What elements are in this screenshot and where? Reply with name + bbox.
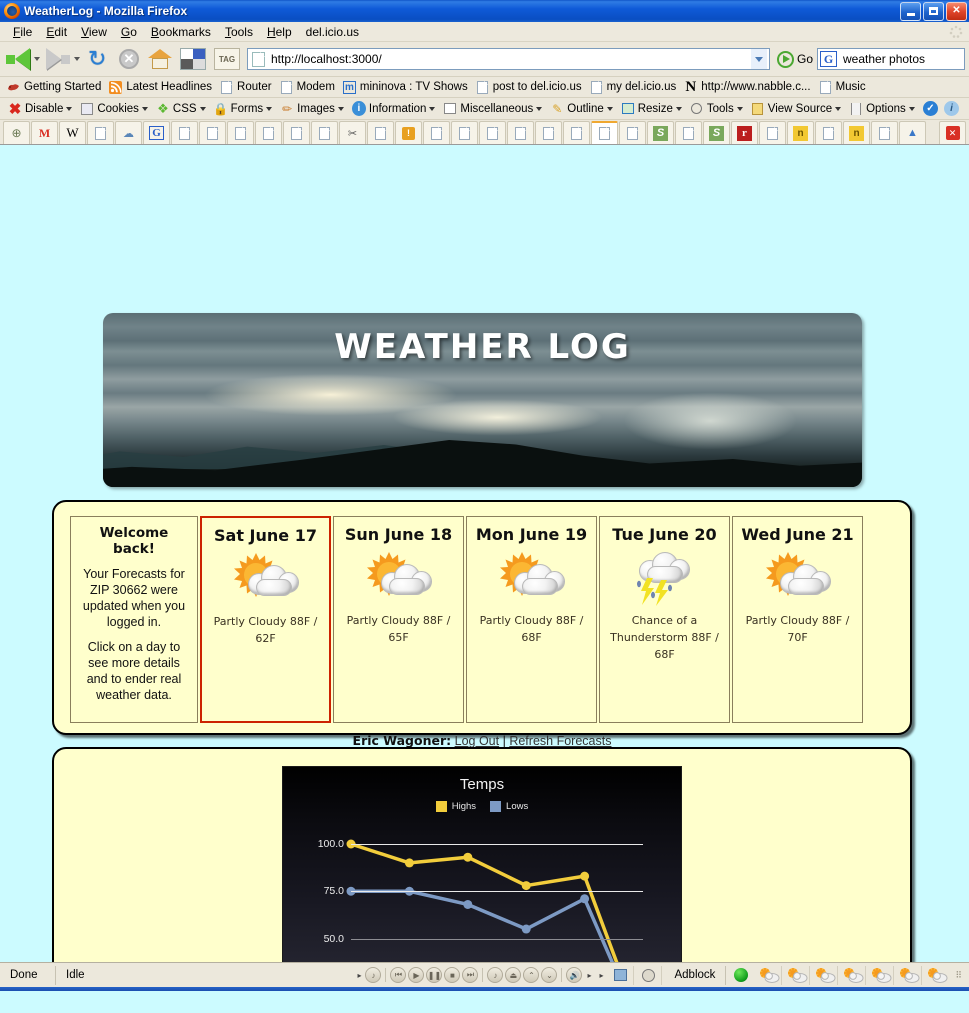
divider [385, 968, 386, 982]
search-bar[interactable]: G [817, 48, 965, 70]
webdev-outline[interactable]: ✎ Outline [546, 101, 616, 117]
welcome-paragraph-1: Your Forecasts for ZIP 30662 were update… [77, 566, 191, 630]
validate-check-icon[interactable]: ✓ [923, 101, 938, 116]
partly-cloudy-icon [230, 551, 302, 609]
chart-title: Temps [283, 776, 681, 793]
overflow-icon-1[interactable]: ▸ [584, 971, 594, 980]
chart-gridline [351, 844, 643, 845]
window-controls: ✕ [900, 2, 967, 21]
menu-decoration-icon [949, 25, 963, 39]
forecast-day: Wed June 21 [739, 525, 856, 544]
close-button[interactable]: ✕ [946, 2, 967, 21]
webdev-label: Miscellaneous [460, 103, 533, 115]
partly-cloudy-icon [363, 550, 435, 608]
chart-y-tick-label: 75.0 [324, 885, 344, 897]
refresh-forecasts-link[interactable]: Refresh Forecasts [509, 734, 611, 748]
chart-panel: Temps Highs Lows 100.075.050.025.00.0200… [52, 747, 912, 962]
partly-cloudy-icon[interactable] [756, 966, 782, 985]
menu-view[interactable]: View [74, 23, 114, 41]
forecast-card-mon[interactable]: Mon June 19 Partly Cloudy 88F / 68F [466, 516, 597, 723]
bookmark-label: mininova : TV Shows [360, 81, 468, 93]
site-banner: WEATHER LOG [103, 313, 862, 487]
palette-icon: ✏ [280, 102, 294, 116]
pause-icon[interactable]: ❚❚ [426, 967, 442, 983]
partly-cloudy-icon[interactable] [784, 966, 810, 985]
chart-point[interactable] [522, 925, 531, 934]
page-content: WEATHER LOG Welcome back! Your Forecasts… [0, 145, 969, 962]
netvibes-icon[interactable]: n [787, 121, 814, 144]
bookmark-label: Latest Headlines [126, 81, 212, 93]
page-icon [476, 80, 489, 94]
back-arrow-icon [15, 48, 30, 70]
live-bookmark-icon[interactable] [180, 48, 206, 70]
webdev-cookies[interactable]: Cookies [76, 101, 152, 117]
next-track-icon[interactable]: ⏭ [462, 967, 478, 983]
partly-cloudy-icon[interactable] [896, 966, 922, 985]
stop-icon[interactable]: ✕ [119, 49, 139, 69]
separator: | [503, 734, 506, 748]
webdev-label: Disable [25, 103, 63, 115]
google-icon[interactable]: G [143, 121, 170, 144]
logout-link[interactable]: Log Out [455, 734, 499, 748]
bookmarks-toolbar: Getting Started Latest Headlines Router … [0, 77, 969, 98]
cloud-icon[interactable]: ☁ [115, 121, 142, 144]
forecast-day: Sat June 17 [208, 526, 323, 545]
menu-file[interactable]: File [6, 23, 39, 41]
page-icon[interactable] [255, 121, 282, 144]
status-text: Done [0, 966, 56, 985]
go-label: Go [797, 52, 813, 66]
welcome-heading: Welcome back! [77, 525, 191, 557]
webdev-label: View Source [768, 103, 832, 115]
overflow-icon-2[interactable]: ▸ [596, 971, 606, 980]
url-bar[interactable] [247, 48, 770, 70]
home-icon[interactable] [148, 48, 172, 70]
page-icon[interactable] [87, 121, 114, 144]
window-titlebar: WeatherLog - Mozilla Firefox ✕ [0, 0, 969, 22]
netvibes-icon[interactable]: n [843, 121, 870, 144]
bookmark-label: Music [836, 81, 866, 93]
webdev-label: Images [297, 103, 335, 115]
webdev-label: Outline [567, 103, 603, 115]
navigation-toolbar: ✕ TAG Go G [0, 42, 969, 77]
forecast-card-tue[interactable]: Tue June 20 C [599, 516, 730, 723]
menu-bar: File Edit View Go Bookmarks Tools Help d… [0, 22, 969, 42]
page-icon[interactable] [227, 121, 254, 144]
chart-point[interactable] [522, 881, 531, 890]
partly-cloudy-icon[interactable] [924, 966, 950, 985]
page-icon[interactable] [759, 121, 786, 144]
adblock-label[interactable]: Adblock [664, 966, 726, 985]
status-bar-icons: ▸ ♪ ⏮ ▶ ❚❚ ■ ⏭ ♪ ⏏ ⌃ ⌄ 🔊 ▸ ▸ Adblock [355, 966, 969, 985]
pencil-icon: ✎ [550, 102, 564, 116]
play-icon[interactable]: ▶ [408, 967, 424, 983]
page-icon[interactable] [507, 121, 534, 144]
forward-arrow-icon [46, 48, 61, 70]
bookmark-modem[interactable]: Modem [277, 79, 340, 95]
chart-gridline [351, 939, 643, 940]
webdev-options[interactable]: Options [845, 101, 919, 117]
page-icon[interactable] [451, 121, 478, 144]
chart-series-svg [351, 844, 643, 962]
current-page-icon[interactable] [591, 121, 618, 144]
page-icon [280, 80, 293, 94]
user-action-bar: Eric Wagoner: Log Out | Refresh Forecast… [70, 733, 894, 748]
page-icon[interactable] [367, 121, 394, 144]
firefox-icon [4, 3, 20, 19]
chart-legend: Highs Lows [283, 801, 681, 812]
forecast-condition: Partly Cloudy 88F / 62F [208, 613, 323, 647]
lightning-bolt-icon [637, 578, 677, 606]
legend-swatch-lows [490, 801, 501, 812]
menu-bookmarks[interactable]: Bookmarks [144, 23, 218, 41]
legend-label: Lows [506, 801, 528, 812]
menu-tools[interactable]: Tools [218, 23, 260, 41]
forecast-condition: Partly Cloudy 88F / 68F [473, 612, 590, 646]
bookmark-nabble[interactable]: N http://www.nabble.c... [681, 79, 815, 95]
legend-item-lows: Lows [490, 801, 528, 812]
page-icon[interactable] [199, 121, 226, 144]
bookmark-mininova[interactable]: m mininova : TV Shows [340, 79, 473, 95]
webdev-right-icons: ✓ i [923, 101, 965, 116]
gmail-icon[interactable]: M [31, 121, 58, 144]
status-bar: Done Idle ▸ ♪ ⏮ ▶ ❚❚ ■ ⏭ ♪ ⏏ ⌃ ⌄ 🔊 ▸ ▸ A… [0, 962, 969, 987]
extension-icon-strip: ⊕ M W ☁ G ✂ ! S S r n n ▲ ✕ [0, 120, 969, 145]
options-icon [849, 102, 863, 116]
webdev-label: Tools [707, 103, 734, 115]
webdev-label: CSS [173, 103, 197, 115]
webdev-label: Cookies [97, 103, 139, 115]
page-icon [819, 80, 832, 94]
back-dropdown-icon[interactable] [34, 57, 40, 61]
chart-plot-area: 100.075.050.025.00.0200420052006 [351, 844, 643, 962]
foxytunes-icon[interactable]: ♪ [365, 967, 381, 983]
chart-point[interactable] [580, 872, 589, 881]
chart-gridline [351, 891, 643, 892]
network-icon[interactable] [608, 966, 634, 985]
info-icon: i [352, 102, 366, 116]
webdev-label: Forms [231, 103, 264, 115]
nabble-icon: N [684, 80, 697, 94]
forecast-card-sun[interactable]: Sun June 18 Partly Cloudy 88F / 65F [333, 516, 464, 723]
welcome-card: Welcome back! Your Forecasts for ZIP 306… [70, 516, 198, 723]
forward-arrow-tail [61, 55, 70, 64]
volume-up-icon[interactable]: ⌃ [523, 967, 539, 983]
mininova-icon: m [343, 80, 356, 94]
page-icon[interactable] [563, 121, 590, 144]
page-icon[interactable] [815, 121, 842, 144]
mute-icon[interactable]: 🔊 [566, 967, 582, 983]
chart-line-highs [351, 844, 643, 962]
forecast-day: Mon June 19 [473, 525, 590, 544]
warning-shield-icon[interactable]: ! [395, 121, 422, 144]
temps-chart[interactable]: Temps Highs Lows 100.075.050.025.00.0200… [282, 766, 682, 962]
bookmark-label: Modem [297, 81, 335, 93]
puzzle-icon: ❖ [156, 102, 170, 116]
forecast-cards: Welcome back! Your Forecasts for ZIP 306… [70, 516, 894, 723]
menu-edit[interactable]: Edit [39, 23, 74, 41]
chart-point[interactable] [405, 858, 414, 867]
stop-icon[interactable]: ■ [444, 967, 460, 983]
player-status-text: Idle [56, 966, 126, 985]
window-bottom-strip [0, 987, 969, 991]
divider [561, 968, 562, 982]
forecast-condition: Partly Cloudy 88F / 70F [739, 612, 856, 646]
forward-button[interactable] [44, 48, 72, 70]
go-button[interactable]: Go [777, 51, 813, 68]
resize-grip-icon[interactable]: ⠿ [952, 970, 965, 981]
rubyforge-icon[interactable]: r [731, 121, 758, 144]
window-title: WeatherLog - Mozilla Firefox [24, 4, 187, 18]
chart-point[interactable] [463, 853, 472, 862]
webdev-css[interactable]: ❖ CSS [152, 101, 210, 117]
page-icon[interactable] [479, 121, 506, 144]
forecast-day: Sun June 18 [340, 525, 457, 544]
playlist-icon[interactable]: ♪ [487, 967, 503, 983]
forecast-card-wed[interactable]: Wed June 21 Partly Cloudy 88F / 70F [732, 516, 863, 723]
webdev-miscellaneous[interactable]: Miscellaneous [439, 101, 546, 117]
maximize-button[interactable] [923, 2, 944, 21]
scissors-icon[interactable]: ✂ [339, 121, 366, 144]
back-arrow-tail [6, 55, 15, 64]
page-icon[interactable] [535, 121, 562, 144]
partly-cloudy-icon[interactable] [868, 966, 894, 985]
page-favicon [252, 52, 265, 67]
forecast-card-sat[interactable]: Sat June 17 Partly Cloudy 88F / 62F [200, 516, 331, 723]
lock-icon: 🔒 [214, 102, 228, 116]
menu-help[interactable]: Help [260, 23, 299, 41]
bookmark-latest-headlines[interactable]: Latest Headlines [106, 79, 217, 95]
info-circle-icon[interactable]: i [944, 101, 959, 116]
close-strip-icon[interactable]: ✕ [939, 121, 966, 144]
search-input[interactable] [841, 51, 969, 67]
webdev-resize[interactable]: Resize [617, 101, 686, 117]
webdev-view-source[interactable]: View Source [747, 101, 845, 117]
webdev-label: Options [866, 103, 906, 115]
page-icon[interactable] [619, 121, 646, 144]
cookie-icon [80, 102, 94, 116]
bookmark-label: http://www.nabble.c... [701, 81, 810, 93]
bookmark-label: my del.icio.us [607, 81, 677, 93]
menu-file-rest: ile [20, 25, 32, 39]
webdev-label: Information [369, 103, 427, 115]
legend-swatch-highs [436, 801, 447, 812]
rss-feed-icon [109, 80, 122, 94]
clipboard-icon [751, 102, 765, 116]
expand-icon[interactable]: ▸ [355, 971, 363, 980]
bookmark-label: Getting Started [24, 81, 101, 93]
go-icon [777, 51, 794, 68]
minimize-button[interactable] [900, 2, 921, 21]
prev-track-icon[interactable]: ⏮ [390, 967, 406, 983]
webdev-tools[interactable]: Tools [686, 101, 747, 117]
add-page-icon[interactable]: ⊕ [3, 121, 30, 144]
partly-cloudy-icon [762, 550, 834, 608]
page-icon [590, 80, 603, 94]
eject-icon[interactable]: ⏏ [505, 967, 521, 983]
tag-button[interactable]: TAG [214, 48, 240, 70]
resize-icon [621, 102, 635, 116]
chart-y-tick-label: 50.0 [324, 933, 344, 945]
partly-cloudy-icon[interactable] [840, 966, 866, 985]
green-dot-icon[interactable] [728, 966, 754, 985]
divider [482, 968, 483, 982]
chart-point[interactable] [580, 894, 589, 903]
user-name: Eric Wagoner: [353, 733, 452, 748]
slashdot-icon[interactable]: S [703, 121, 730, 144]
slashdot-icon[interactable]: S [647, 121, 674, 144]
partly-cloudy-icon[interactable] [812, 966, 838, 985]
firefox-bookmark-icon [7, 80, 20, 94]
url-dropdown-icon[interactable] [751, 49, 767, 69]
forecast-condition: Chance of a Thunderstorm 88F / 68F [606, 612, 723, 663]
bookmark-getting-started[interactable]: Getting Started [4, 79, 106, 95]
forward-dropdown-icon[interactable] [74, 57, 80, 61]
webdev-disable[interactable]: ✖ Disable [4, 101, 76, 117]
forecast-panel: Welcome back! Your Forecasts for ZIP 306… [52, 500, 912, 735]
legend-label: Highs [452, 801, 476, 812]
webdev-information[interactable]: i Information [348, 101, 440, 117]
unhappy-face-icon[interactable] [636, 966, 662, 985]
menu-go[interactable]: Go [114, 23, 144, 41]
chart-y-tick-label: 100.0 [318, 838, 344, 850]
list-icon [443, 102, 457, 116]
bookmark-router[interactable]: Router [217, 79, 277, 95]
red-x-icon: ✖ [8, 102, 22, 116]
page-icon [220, 80, 233, 94]
web-developer-toolbar: ✖ Disable Cookies ❖ CSS 🔒 Forms ✏ Images… [0, 98, 969, 120]
page-icon[interactable] [283, 121, 310, 144]
clock-icon [690, 102, 704, 116]
bookmark-music[interactable]: Music [816, 79, 871, 95]
bookmark-my-delicious[interactable]: my del.icio.us [587, 79, 682, 95]
page-icon[interactable] [423, 121, 450, 144]
url-input[interactable] [269, 51, 751, 67]
forecast-day: Tue June 20 [606, 525, 723, 544]
page-title: WEATHER LOG [103, 327, 862, 367]
welcome-paragraph-2: Click on a day to see more details and t… [77, 639, 191, 703]
page-icon[interactable] [171, 121, 198, 144]
page-icon[interactable] [675, 121, 702, 144]
bookmark-label: Router [237, 81, 272, 93]
chart-point[interactable] [463, 900, 472, 909]
chart-line-lows [351, 891, 643, 962]
legend-item-highs: Highs [436, 801, 476, 812]
bookmark-label: post to del.icio.us [493, 81, 582, 93]
wikipedia-icon[interactable]: W [59, 121, 86, 144]
thunderstorm-icon [629, 550, 701, 608]
mountain-icon[interactable]: ▲ [899, 121, 926, 144]
volume-down-icon[interactable]: ⌄ [541, 967, 557, 983]
menu-delicious[interactable]: del.icio.us [299, 23, 366, 41]
google-search-icon[interactable]: G [820, 51, 837, 67]
webdev-images[interactable]: ✏ Images [276, 101, 348, 117]
back-button[interactable] [4, 48, 32, 70]
page-icon[interactable] [871, 121, 898, 144]
bookmark-post-to-delicious[interactable]: post to del.icio.us [473, 79, 587, 95]
reload-icon[interactable] [88, 48, 110, 70]
webdev-forms[interactable]: 🔒 Forms [210, 101, 277, 117]
page-icon[interactable] [311, 121, 338, 144]
webdev-label: Resize [638, 103, 673, 115]
forecast-condition: Partly Cloudy 88F / 65F [340, 612, 457, 646]
partly-cloudy-icon [496, 550, 568, 608]
